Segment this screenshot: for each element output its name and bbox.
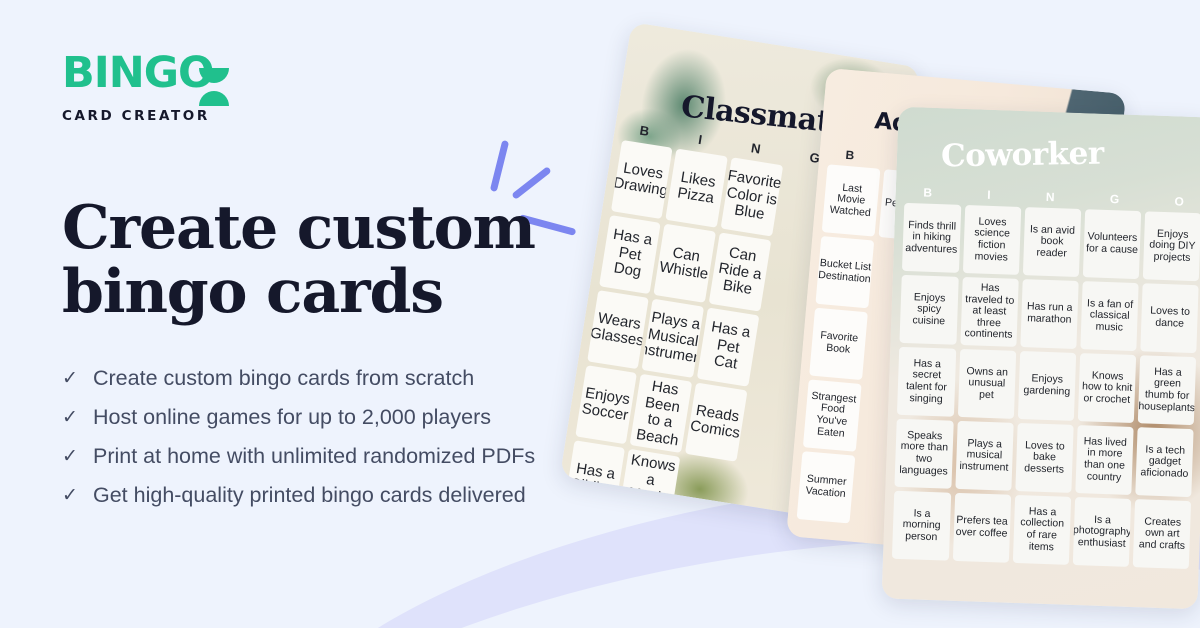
bingo-cell[interactable]: Enjoys gardening	[1018, 351, 1077, 421]
bingo-cell[interactable]: Prefers tea over coffee	[953, 493, 1012, 563]
bingo-cell[interactable]: Has Been to a Beach	[630, 374, 692, 453]
bingo-cell[interactable]: Has a Pet Cat	[697, 307, 759, 386]
bingo-cell[interactable]: Reads Comics	[685, 383, 747, 462]
bingo-card-coworker[interactable]: Coworker B I N G O Finds thrill in hikin…	[882, 107, 1200, 610]
bingo-cell[interactable]: Volunteers for a cause	[1083, 209, 1142, 279]
feature-label: Get high-quality printed bingo cards del…	[93, 483, 526, 508]
feature-label: Print at home with unlimited randomized …	[93, 444, 535, 469]
bingo-cell[interactable]: Knows a Magic Trick	[618, 449, 680, 522]
bingo-cell[interactable]: Is a tech gadget aficionado	[1136, 427, 1195, 497]
bingo-cell[interactable]: Plays a Musical Instrument	[642, 299, 704, 378]
bingo-cell[interactable]: Creates own art and crafts	[1133, 499, 1192, 569]
bingo-cell[interactable]: Summer Vacation	[797, 451, 856, 523]
bingo-cell[interactable]: Loves to dance	[1141, 283, 1200, 353]
bingo-cell[interactable]: Owns an unusual pet	[958, 349, 1017, 419]
bingo-cell[interactable]: Knows how to knit or crochet	[1078, 353, 1137, 423]
promo-banner: BINGO CARD CREATOR Create custom bingo c…	[0, 0, 1200, 628]
bingo-letter: N	[1046, 190, 1055, 204]
bingo-cell[interactable]: Strangest Food You've Eaten	[803, 379, 862, 451]
bingo-cell[interactable]: Has a green thumb for houseplants	[1138, 355, 1197, 425]
bingo-cell[interactable]: Has a collection of rare items	[1013, 495, 1072, 565]
bingo-grid: Finds thrill in hiking adventuresLoves s…	[892, 203, 1200, 569]
check-icon: ✓	[62, 486, 80, 505]
bingo-cell[interactable]: Finds thrill in hiking adventures	[902, 203, 961, 273]
bingo-cell[interactable]: Can Ride a Bike	[709, 232, 771, 311]
bingo-cell[interactable]: Enjoys doing DIY projects	[1143, 211, 1200, 281]
bingo-cell[interactable]: Loves science fiction movies	[963, 205, 1022, 275]
bingo-cell[interactable]: Has a secret talent for singing	[897, 347, 956, 417]
bingo-letter: B	[923, 186, 932, 200]
bingo-card-title: Coworker	[941, 136, 1104, 175]
bingo-letter: G	[1110, 192, 1120, 206]
bingo-letter: I	[987, 188, 991, 202]
bingo-cell[interactable]: Favorite Book	[809, 308, 868, 380]
bingo-cell[interactable]: Speaks more than two languages	[895, 419, 954, 489]
bingo-cell[interactable]: Has a Sibling	[563, 440, 625, 519]
bingo-cell[interactable]: Can Whistle	[654, 224, 716, 303]
check-icon: ✓	[62, 369, 80, 388]
bingo-cell[interactable]: Is a photography enthusiast	[1073, 497, 1132, 567]
bingo-card-stack: Classmate B I N G O Loves DrawingLikes P…	[560, 0, 1200, 628]
feature-label: Host online games for up to 2,000 player…	[93, 405, 491, 430]
bingo-letter: B	[845, 148, 855, 163]
bingo-cell[interactable]: Has traveled to at least three continent…	[960, 277, 1019, 347]
bingo-cell[interactable]: Last Movie Watched	[822, 164, 881, 236]
bingo-cell[interactable]: Loves to bake desserts	[1015, 423, 1074, 493]
bingo-cell[interactable]: Enjoys spicy cuisine	[900, 275, 959, 345]
check-icon: ✓	[62, 447, 80, 466]
bingo-cell[interactable]: Bucket List Destination	[815, 236, 874, 308]
bingo-cell[interactable]: Favorite Color is Blue	[721, 157, 783, 236]
bingo-letter: B	[639, 123, 651, 139]
page-title: Create custom bingo cards	[62, 196, 582, 324]
bingo-letter: O	[1174, 194, 1184, 208]
feature-label: Create custom bingo cards from scratch	[93, 366, 474, 391]
bingo-cell[interactable]: Has run a marathon	[1020, 279, 1079, 349]
bingo-cell[interactable]: Enjoys Soccer	[575, 365, 637, 444]
check-icon: ✓	[62, 408, 80, 427]
bingo-cell[interactable]: Plays a musical instrument	[955, 421, 1014, 491]
brand-logo-text: BINGO	[62, 48, 214, 98]
bingo-cell[interactable]: Wears Glasses	[587, 290, 649, 369]
bingo-cell[interactable]: Loves Drawing	[611, 140, 673, 219]
bingo-cell[interactable]: Has a Pet Dog	[599, 215, 661, 294]
bingo-letter: I	[697, 132, 703, 147]
bingo-cell[interactable]: Is a fan of classical music	[1080, 281, 1139, 351]
bingo-cell[interactable]: Likes Pizza	[666, 149, 728, 228]
bingo-cell[interactable]: Is an avid book reader	[1023, 207, 1082, 277]
bingo-letter: N	[750, 140, 762, 156]
bingo-cell[interactable]: Has lived in more than one country	[1075, 425, 1134, 495]
bingo-cell[interactable]: Is a morning person	[892, 491, 951, 561]
